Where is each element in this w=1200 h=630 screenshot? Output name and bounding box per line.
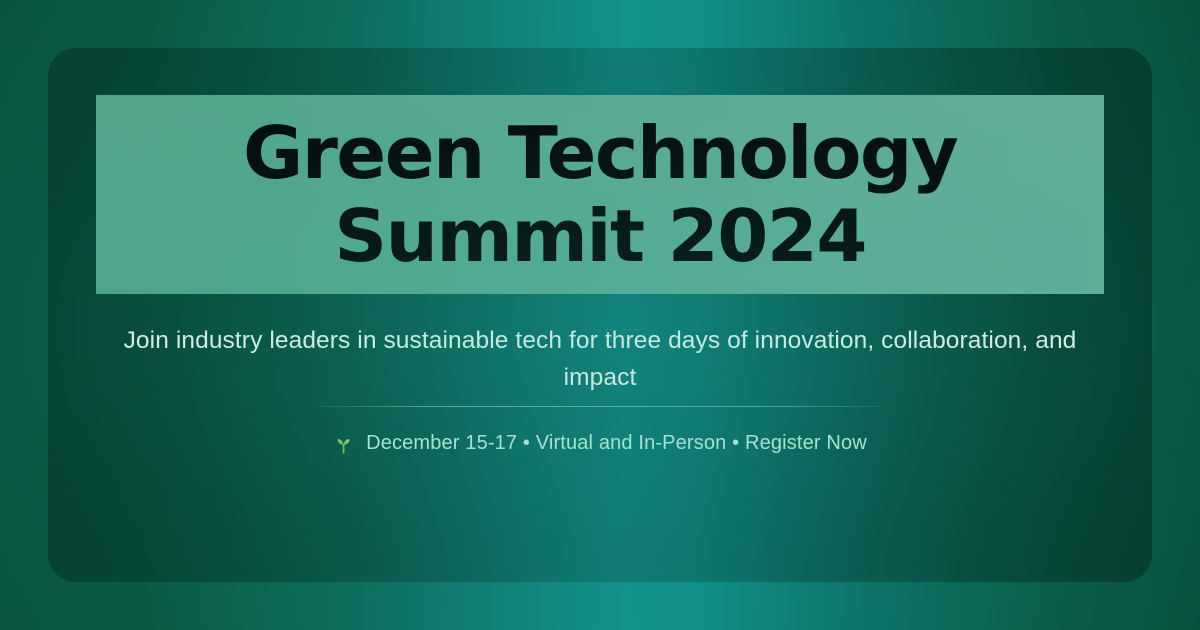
event-card: Green Technology Summit 2024 Join indust… (48, 48, 1152, 582)
event-subtitle: Join industry leaders in sustainable tec… (96, 322, 1104, 396)
event-meta: December 15-17 • Virtual and In-Person •… (96, 432, 1104, 455)
page-title: Green Technology Summit 2024 (224, 112, 975, 276)
seedling-icon (333, 433, 355, 455)
title-banner: Green Technology Summit 2024 (96, 95, 1104, 294)
event-meta-text: December 15-17 • Virtual and In-Person •… (366, 432, 867, 455)
divider (315, 406, 885, 407)
poster-canvas: Green Technology Summit 2024 Join indust… (0, 0, 1200, 630)
